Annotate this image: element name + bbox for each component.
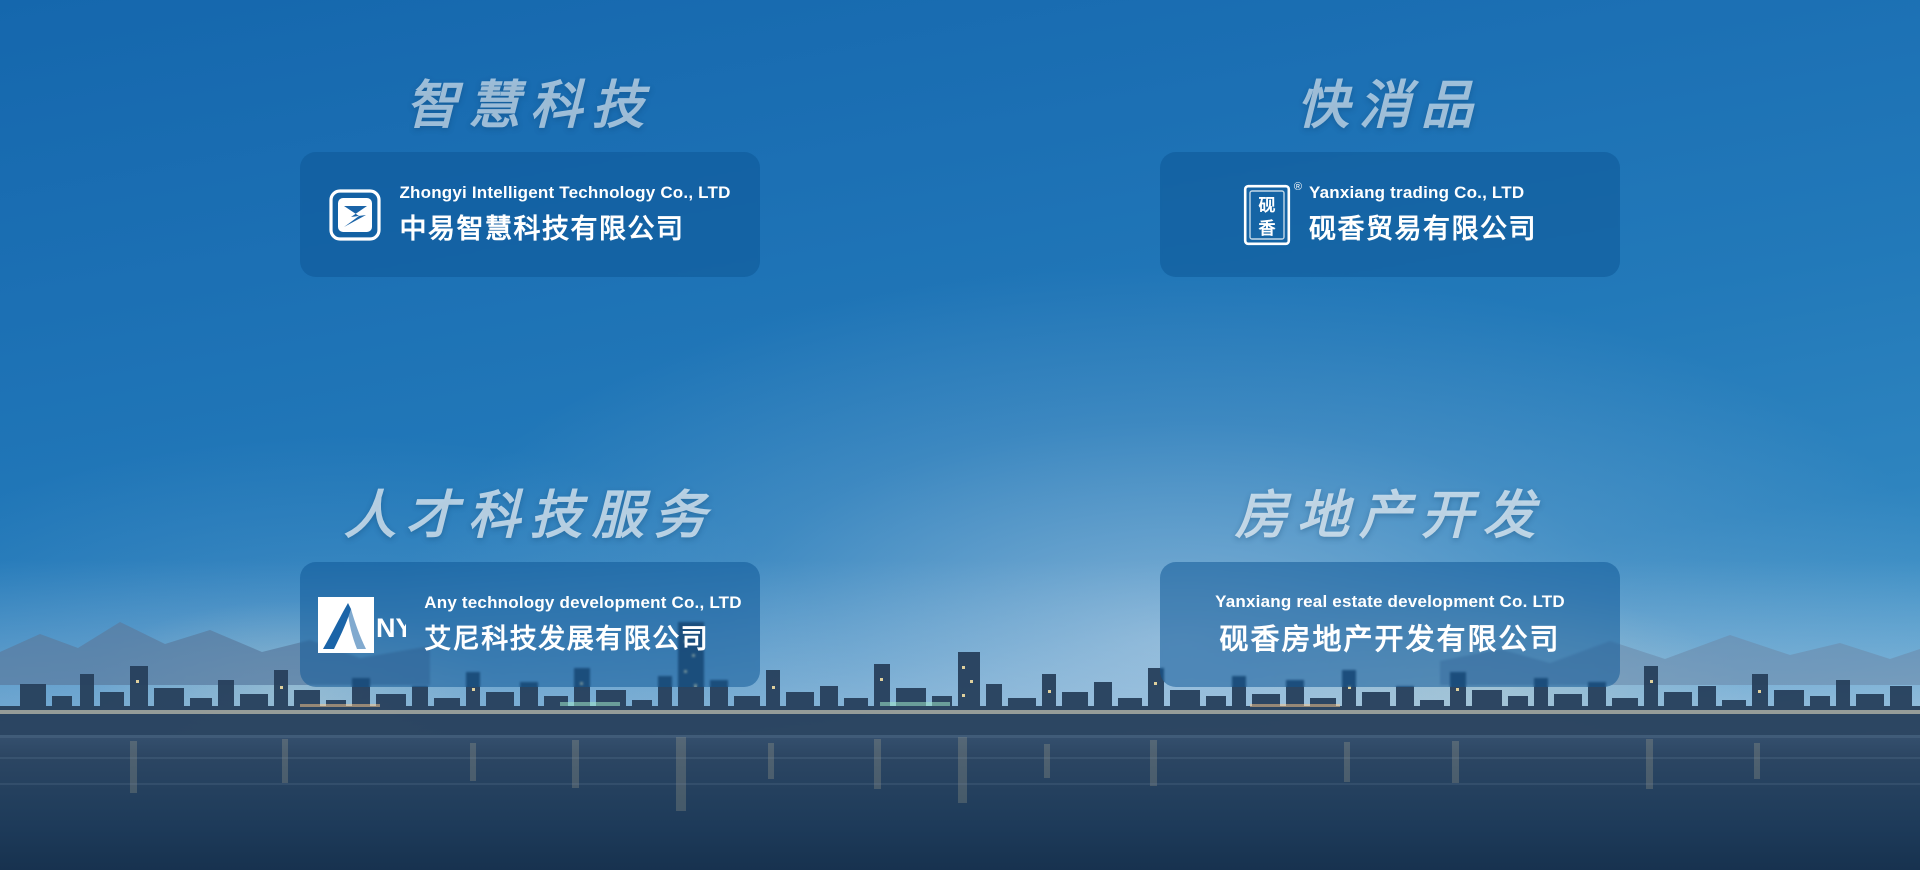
company-card[interactable]: 砚 香 ® Yanxiang trading Co., LTD 砚香贸易有限公司 — [1160, 152, 1620, 277]
company-name-cn: 砚香贸易有限公司 — [1309, 207, 1537, 246]
segment-heading: 快消品 — [960, 60, 1820, 152]
seal-char-bottom: 香 — [1259, 219, 1276, 239]
company-name-cn: 中易智慧科技有限公司 — [399, 207, 730, 246]
segment-fmcg: 快消品 砚 香 ® Yanxiang trading Co., LTD 砚香贸易… — [960, 60, 1820, 470]
segment-heading: 智慧科技 — [100, 60, 960, 152]
segment-talent-tech-services: 人才科技服务 NY Any technology development Co.… — [100, 470, 960, 870]
company-card[interactable]: Zhongyi Intelligent Technology Co., LTD … — [300, 152, 760, 277]
zhongyi-z-logo — [329, 189, 381, 241]
segment-smart-technology: 智慧科技 Zhongyi Intelligent Technology Co.,… — [100, 60, 960, 470]
company-name-cn: 艾尼科技发展有限公司 — [424, 617, 741, 656]
company-name-en: Yanxiang real estate development Co. LTD — [1215, 592, 1565, 612]
business-segments-grid: 智慧科技 Zhongyi Intelligent Technology Co.,… — [0, 0, 1920, 870]
company-name-cn: 砚香房地产开发有限公司 — [1219, 616, 1560, 658]
company-card[interactable]: NY Any technology development Co., LTD 艾… — [300, 562, 760, 687]
seal-char-top: 砚 — [1259, 196, 1276, 216]
company-text: Any technology development Co., LTD 艾尼科技… — [424, 593, 741, 656]
yanxiang-seal-logo: 砚 香 ® — [1243, 184, 1291, 246]
registered-mark-icon: ® — [1294, 182, 1302, 193]
company-text: Yanxiang trading Co., LTD 砚香贸易有限公司 — [1309, 183, 1537, 246]
company-name-en: Yanxiang trading Co., LTD — [1309, 183, 1537, 203]
company-name-en: Any technology development Co., LTD — [424, 593, 741, 613]
company-text: Yanxiang real estate development Co. LTD… — [1215, 592, 1565, 658]
company-card[interactable]: Yanxiang real estate development Co. LTD… — [1160, 562, 1620, 687]
company-name-en: Zhongyi Intelligent Technology Co., LTD — [399, 183, 730, 203]
any-logo-letters: NY — [376, 613, 406, 643]
segment-real-estate: 房地产开发 Yanxiang real estate development C… — [960, 470, 1820, 870]
company-text: Zhongyi Intelligent Technology Co., LTD … — [399, 183, 730, 246]
any-technology-logo: NY — [318, 597, 406, 653]
segment-heading: 人才科技服务 — [100, 470, 960, 562]
segment-heading: 房地产开发 — [960, 470, 1820, 562]
